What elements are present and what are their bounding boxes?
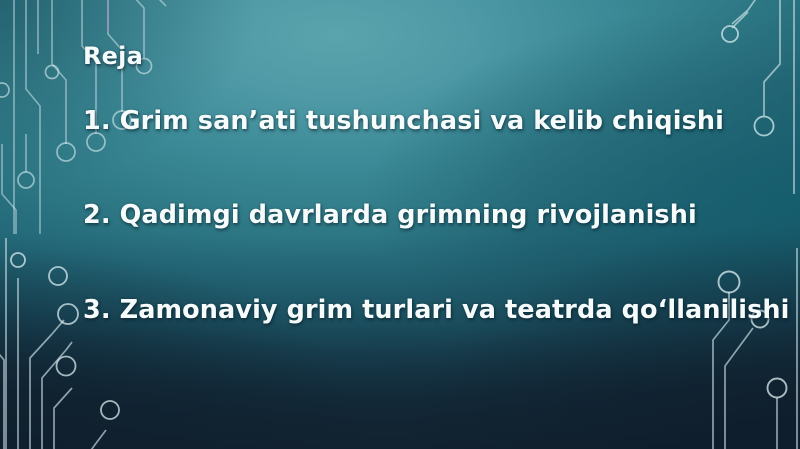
slide-content: Reja 1. Grim san’ati tushunchasi va keli… xyxy=(0,0,800,449)
agenda-item-3: 3. Zamonaviy grim turlari va teatrda qo‘… xyxy=(83,295,790,325)
presentation-slide: Reja 1. Grim san’ati tushunchasi va keli… xyxy=(0,0,800,449)
agenda-item-2: 2. Qadimgi davrlarda grimning rivojlanis… xyxy=(83,200,697,230)
page-title: Reja xyxy=(83,42,143,70)
agenda-item-1: 1. Grim san’ati tushunchasi va kelib chi… xyxy=(83,106,724,136)
